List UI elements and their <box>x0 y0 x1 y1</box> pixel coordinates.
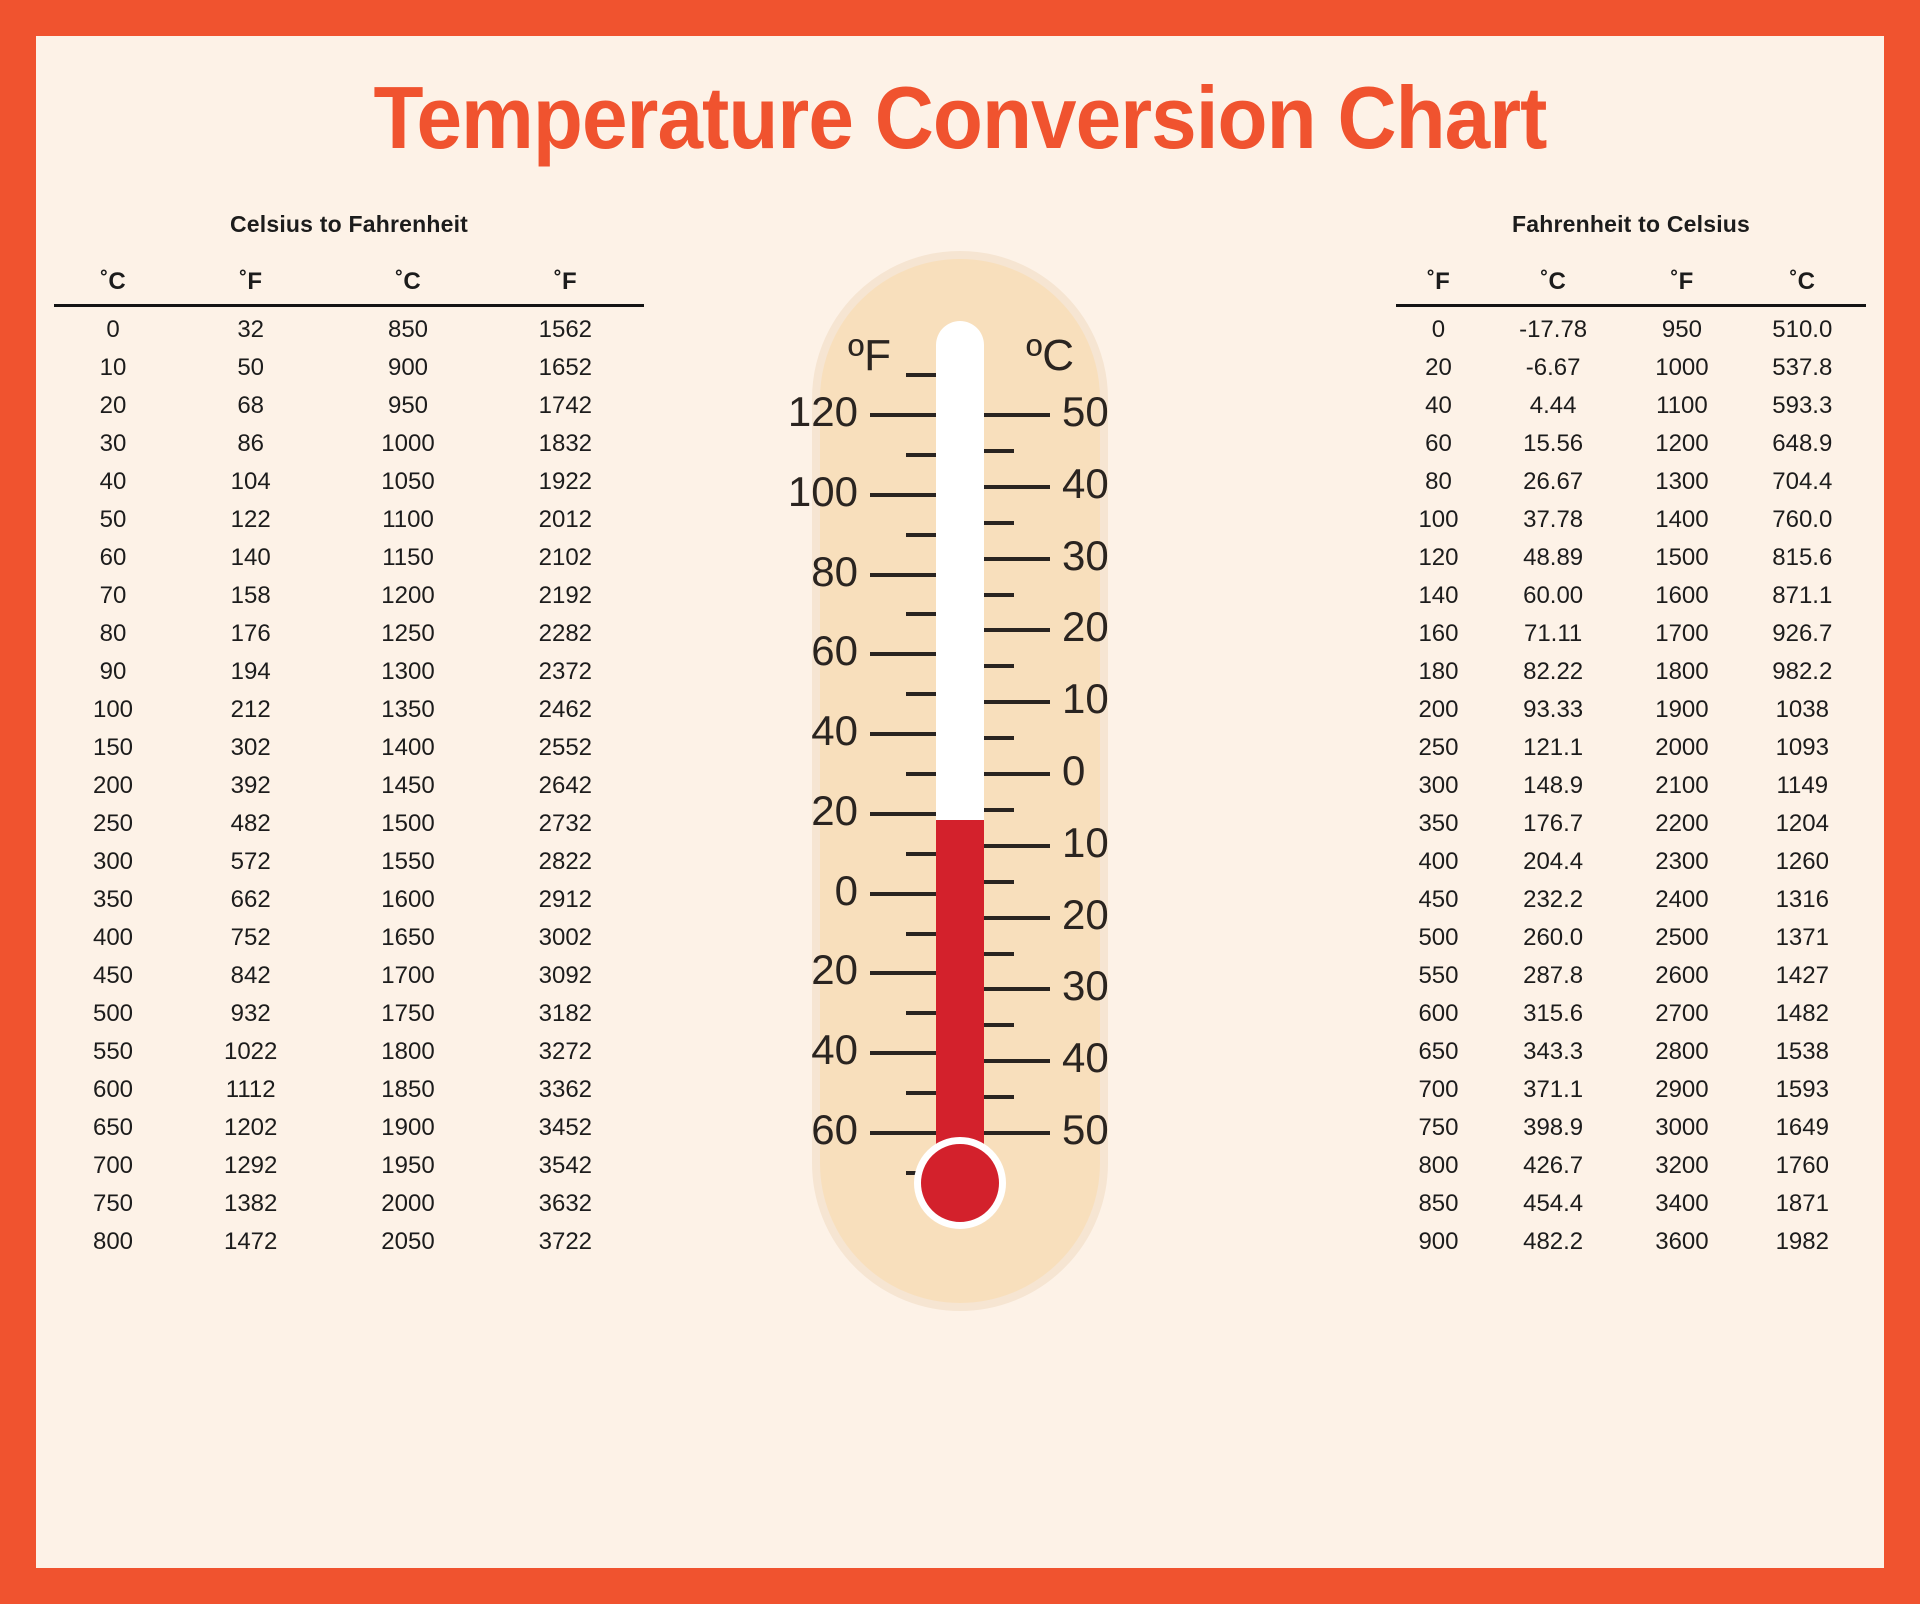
table-cell: 1450 <box>329 767 486 805</box>
table-cell: 1800 <box>1625 653 1738 691</box>
table-cell: 398.9 <box>1481 1109 1625 1147</box>
table-cell: 1350 <box>329 691 486 729</box>
table-cell: 1650 <box>329 919 486 957</box>
table-cell: 26.67 <box>1481 463 1625 501</box>
table-cell: 86 <box>172 425 329 463</box>
table-cell: 704.4 <box>1739 463 1866 501</box>
table-cell: 60 <box>1396 425 1481 463</box>
table-cell: 0 <box>1396 306 1481 350</box>
table-cell: 158 <box>172 577 329 615</box>
scale-tick-label: 50 <box>1062 391 1109 433</box>
table-cell: 3182 <box>487 995 644 1033</box>
scale-tick-label: 20 <box>1062 606 1109 648</box>
column-header: ˚F <box>487 268 644 306</box>
poster-sheet: Temperature Conversion Chart Celsius to … <box>36 36 1884 1568</box>
scale-tick-label: 40 <box>811 710 858 752</box>
table-cell: 315.6 <box>1481 995 1625 1033</box>
thermometer-celsius-unit-label: ºC <box>1026 331 1074 381</box>
table-row: 600315.627001482 <box>1396 995 1866 1033</box>
table-cell: 2300 <box>1625 843 1738 881</box>
column-header: ˚C <box>1481 268 1625 306</box>
table-row: 16071.111700926.7 <box>1396 615 1866 653</box>
table-row: 50093217503182 <box>54 995 644 1033</box>
table-cell: 2372 <box>487 653 644 691</box>
table-cell: 760.0 <box>1739 501 1866 539</box>
table-cell: 204.4 <box>1481 843 1625 881</box>
table-cell: 150 <box>54 729 172 767</box>
table-cell: 1652 <box>487 349 644 387</box>
scale-tick-label: 60 <box>811 630 858 672</box>
table-row: 12048.891500815.6 <box>1396 539 1866 577</box>
table-cell: 300 <box>1396 767 1481 805</box>
table-row: 7015812002192 <box>54 577 644 615</box>
table-cell: 1550 <box>329 843 486 881</box>
table-row: 6015.561200648.9 <box>1396 425 1866 463</box>
thermometer-fahrenheit-unit-label: ºF <box>848 331 891 381</box>
table-cell: 1382 <box>172 1185 329 1223</box>
table-cell: 2552 <box>487 729 644 767</box>
table-row: 6014011502102 <box>54 539 644 577</box>
table-cell: 1300 <box>1625 463 1738 501</box>
table-cell: 750 <box>1396 1109 1481 1147</box>
scale-tick-label: 50 <box>1062 1109 1109 1151</box>
table-cell: 2900 <box>1625 1071 1738 1109</box>
table-cell: 454.4 <box>1481 1185 1625 1223</box>
table-row: 20-6.671000537.8 <box>1396 349 1866 387</box>
table-cell: 1538 <box>1739 1033 1866 1071</box>
table-cell: 200 <box>54 767 172 805</box>
table-cell: 1200 <box>1625 425 1738 463</box>
table-cell: 1600 <box>329 881 486 919</box>
table-row: 400204.423001260 <box>1396 843 1866 881</box>
table-cell: 648.9 <box>1739 425 1866 463</box>
table-cell: 1150 <box>329 539 486 577</box>
table-cell: 1100 <box>1625 387 1738 425</box>
table-cell: 1600 <box>1625 577 1738 615</box>
scale-tick-label: 40 <box>1062 463 1109 505</box>
table-cell: 1400 <box>329 729 486 767</box>
column-header: ˚C <box>1739 268 1866 306</box>
table-row: 750138220003632 <box>54 1185 644 1223</box>
table-cell: 40 <box>54 463 172 501</box>
table-cell: 1500 <box>1625 539 1738 577</box>
table-cell: 1760 <box>1739 1147 1866 1185</box>
table-cell: 700 <box>1396 1071 1481 1109</box>
table-cell: 80 <box>1396 463 1481 501</box>
table-cell: 842 <box>172 957 329 995</box>
table-cell: 1292 <box>172 1147 329 1185</box>
table-cell: 3632 <box>487 1185 644 1223</box>
scale-tick-label: 30 <box>1062 965 1109 1007</box>
table-cell: 300 <box>54 843 172 881</box>
table-cell: -6.67 <box>1481 349 1625 387</box>
table-cell: 2192 <box>487 577 644 615</box>
table-cell: 426.7 <box>1481 1147 1625 1185</box>
table-cell: 2732 <box>487 805 644 843</box>
table-cell: 0 <box>54 306 172 350</box>
table-cell: 2700 <box>1625 995 1738 1033</box>
table-cell: 1500 <box>329 805 486 843</box>
table-row: 9019413002372 <box>54 653 644 691</box>
table-cell: 2912 <box>487 881 644 919</box>
table-cell: 926.7 <box>1739 615 1866 653</box>
table-cell: 104 <box>172 463 329 501</box>
scale-tick-label: 40 <box>1062 1037 1109 1079</box>
table-cell: -17.78 <box>1481 306 1625 350</box>
table-cell: 3092 <box>487 957 644 995</box>
table-cell: 982.2 <box>1739 653 1866 691</box>
table-row: 25048215002732 <box>54 805 644 843</box>
scale-tick-label: 80 <box>811 551 858 593</box>
table-cell: 350 <box>54 881 172 919</box>
table-row: 650120219003452 <box>54 1109 644 1147</box>
table-cell: 650 <box>1396 1033 1481 1071</box>
table-cell: 1371 <box>1739 919 1866 957</box>
table-cell: 121.1 <box>1481 729 1625 767</box>
table-cell: 287.8 <box>1481 957 1625 995</box>
table-cell: 200 <box>1396 691 1481 729</box>
table-cell: 3002 <box>487 919 644 957</box>
table-cell: 3200 <box>1625 1147 1738 1185</box>
table-row: 250121.120001093 <box>1396 729 1866 767</box>
table-cell: 50 <box>54 501 172 539</box>
table-cell: 250 <box>1396 729 1481 767</box>
table-cell: 950 <box>329 387 486 425</box>
table-cell: 302 <box>172 729 329 767</box>
table-cell: 212 <box>172 691 329 729</box>
table-cell: 1850 <box>329 1071 486 1109</box>
table-row: 10037.781400760.0 <box>1396 501 1866 539</box>
table-cell: 3272 <box>487 1033 644 1071</box>
table-cell: 500 <box>1396 919 1481 957</box>
table-cell: 1950 <box>329 1147 486 1185</box>
table-cell: 1038 <box>1739 691 1866 729</box>
table-cell: 1316 <box>1739 881 1866 919</box>
table-cell: 850 <box>1396 1185 1481 1223</box>
scale-tick-label: 100 <box>788 471 858 513</box>
table-cell: 1260 <box>1739 843 1866 881</box>
table-cell: 176 <box>172 615 329 653</box>
table-row: 45084217003092 <box>54 957 644 995</box>
table-cell: 1000 <box>1625 349 1738 387</box>
celsius-to-fahrenheit-table: ˚C ˚F ˚C ˚F 0328501562105090016522068950… <box>54 268 644 1261</box>
page-title: Temperature Conversion Chart <box>101 74 1820 162</box>
table-cell: 2012 <box>487 501 644 539</box>
table-cell: 60 <box>54 539 172 577</box>
table-cell: 3000 <box>1625 1109 1738 1147</box>
table-cell: 1562 <box>487 306 644 350</box>
table-cell: 900 <box>329 349 486 387</box>
column-header: ˚F <box>1396 268 1481 306</box>
table-row: 300148.921001149 <box>1396 767 1866 805</box>
table-cell: 815.6 <box>1739 539 1866 577</box>
table-cell: 37.78 <box>1481 501 1625 539</box>
fahrenheit-to-celsius-table: ˚F ˚C ˚F ˚C 0-17.78950510.020-6.67100053… <box>1396 268 1866 1261</box>
table-cell: 510.0 <box>1739 306 1866 350</box>
table-cell: 1900 <box>1625 691 1738 729</box>
table-cell: 3542 <box>487 1147 644 1185</box>
table-cell: 2822 <box>487 843 644 881</box>
thermometer-bulb <box>914 1137 1006 1229</box>
table-cell: 1093 <box>1739 729 1866 767</box>
table-row: 600111218503362 <box>54 1071 644 1109</box>
scale-tick-label: 0 <box>1062 750 1085 792</box>
table-cell: 260.0 <box>1481 919 1625 957</box>
table-cell: 600 <box>1396 995 1481 1033</box>
right-table-caption: Fahrenheit to Celsius <box>1396 211 1866 238</box>
table-row: 900482.236001982 <box>1396 1223 1866 1261</box>
fahrenheit-to-celsius-block: Fahrenheit to Celsius ˚F ˚C ˚F ˚C 0-17.7… <box>1396 211 1866 1261</box>
scale-tick-label: 10 <box>1062 822 1109 864</box>
table-row: 800147220503722 <box>54 1223 644 1261</box>
table-cell: 30 <box>54 425 172 463</box>
table-cell: 650 <box>54 1109 172 1147</box>
table-header-row: ˚C ˚F ˚C ˚F <box>54 268 644 306</box>
table-cell: 2000 <box>329 1185 486 1223</box>
table-row: 0328501562 <box>54 306 644 350</box>
table-cell: 80 <box>54 615 172 653</box>
table-cell: 1472 <box>172 1223 329 1261</box>
table-cell: 371.1 <box>1481 1071 1625 1109</box>
table-cell: 60.00 <box>1481 577 1625 615</box>
table-row: 450232.224001316 <box>1396 881 1866 919</box>
table-cell: 40 <box>1396 387 1481 425</box>
table-header-row: ˚F ˚C ˚F ˚C <box>1396 268 1866 306</box>
table-cell: 140 <box>172 539 329 577</box>
scale-tick-label: 30 <box>1062 535 1109 577</box>
table-cell: 2050 <box>329 1223 486 1261</box>
table-row: 4010410501922 <box>54 463 644 501</box>
table-cell: 1204 <box>1739 805 1866 843</box>
table-cell: 1871 <box>1739 1185 1866 1223</box>
table-cell: 1700 <box>1625 615 1738 653</box>
table-row: 35066216002912 <box>54 881 644 919</box>
table-cell: 450 <box>1396 881 1481 919</box>
table-cell: 3722 <box>487 1223 644 1261</box>
table-cell: 600 <box>54 1071 172 1109</box>
table-cell: 343.3 <box>1481 1033 1625 1071</box>
table-cell: 82.22 <box>1481 653 1625 691</box>
table-row: 18082.221800982.2 <box>1396 653 1866 691</box>
table-cell: 20 <box>54 387 172 425</box>
table-row: 700371.129001593 <box>1396 1071 1866 1109</box>
table-row: 750398.930001649 <box>1396 1109 1866 1147</box>
table-cell: 392 <box>172 767 329 805</box>
table-cell: 70 <box>54 577 172 615</box>
table-cell: 450 <box>54 957 172 995</box>
table-cell: 800 <box>54 1223 172 1261</box>
table-cell: 32 <box>172 306 329 350</box>
table-cell: 900 <box>1396 1223 1481 1261</box>
table-cell: 140 <box>1396 577 1481 615</box>
table-cell: 15.56 <box>1481 425 1625 463</box>
table-cell: 2100 <box>1625 767 1738 805</box>
table-cell: 550 <box>1396 957 1481 995</box>
table-cell: 194 <box>172 653 329 691</box>
table-cell: 250 <box>54 805 172 843</box>
table-cell: 1000 <box>329 425 486 463</box>
table-cell: 1200 <box>329 577 486 615</box>
table-cell: 2800 <box>1625 1033 1738 1071</box>
table-cell: 2102 <box>487 539 644 577</box>
table-cell: 50 <box>172 349 329 387</box>
table-cell: 850 <box>329 306 486 350</box>
scale-tick-label: 120 <box>788 391 858 433</box>
table-cell: 1742 <box>487 387 644 425</box>
table-cell: 1427 <box>1739 957 1866 995</box>
table-cell: 1022 <box>172 1033 329 1071</box>
table-cell: 662 <box>172 881 329 919</box>
column-header: ˚C <box>329 268 486 306</box>
table-cell: 950 <box>1625 306 1738 350</box>
table-cell: 1100 <box>329 501 486 539</box>
table-cell: 1922 <box>487 463 644 501</box>
scale-tick-label: 20 <box>811 949 858 991</box>
table-cell: 482.2 <box>1481 1223 1625 1261</box>
table-row: 20039214502642 <box>54 767 644 805</box>
table-cell: 2500 <box>1625 919 1738 957</box>
table-cell: 500 <box>54 995 172 1033</box>
poster-root: Temperature Conversion Chart Celsius to … <box>0 0 1920 1604</box>
table-cell: 71.11 <box>1481 615 1625 653</box>
table-cell: 800 <box>1396 1147 1481 1185</box>
table-cell: 180 <box>1396 653 1481 691</box>
table-cell: 4.44 <box>1481 387 1625 425</box>
column-header: ˚C <box>54 268 172 306</box>
thermometer-mercury <box>936 820 984 1181</box>
table-cell: 1250 <box>329 615 486 653</box>
table-cell: 1832 <box>487 425 644 463</box>
table-cell: 20 <box>1396 349 1481 387</box>
table-cell: 1300 <box>329 653 486 691</box>
table-cell: 1400 <box>1625 501 1738 539</box>
table-row: 14060.001600871.1 <box>1396 577 1866 615</box>
table-cell: 593.3 <box>1739 387 1866 425</box>
table-cell: 100 <box>1396 501 1481 539</box>
table-row: 404.441100593.3 <box>1396 387 1866 425</box>
table-row: 350176.722001204 <box>1396 805 1866 843</box>
table-cell: 400 <box>1396 843 1481 881</box>
table-cell: 1750 <box>329 995 486 1033</box>
table-cell: 3400 <box>1625 1185 1738 1223</box>
table-cell: 2000 <box>1625 729 1738 767</box>
table-row: 550287.826001427 <box>1396 957 1866 995</box>
table-row: 10021213502462 <box>54 691 644 729</box>
table-cell: 1649 <box>1739 1109 1866 1147</box>
table-cell: 232.2 <box>1481 881 1625 919</box>
table-row: 20093.3319001038 <box>1396 691 1866 729</box>
table-cell: 68 <box>172 387 329 425</box>
table-cell: 93.33 <box>1481 691 1625 729</box>
table-row: 850454.434001871 <box>1396 1185 1866 1223</box>
table-cell: 2600 <box>1625 957 1738 995</box>
table-cell: 2282 <box>487 615 644 653</box>
table-row: 5012211002012 <box>54 501 644 539</box>
table-cell: 2642 <box>487 767 644 805</box>
table-cell: 932 <box>172 995 329 1033</box>
table-row: 550102218003272 <box>54 1033 644 1071</box>
column-header: ˚F <box>172 268 329 306</box>
table-cell: 2400 <box>1625 881 1738 919</box>
celsius-to-fahrenheit-block: Celsius to Fahrenheit ˚C ˚F ˚C ˚F 032850… <box>54 211 644 1261</box>
table-cell: 160 <box>1396 615 1481 653</box>
table-row: 15030214002552 <box>54 729 644 767</box>
thermometer-tube <box>936 321 984 1181</box>
table-cell: 122 <box>172 501 329 539</box>
scale-tick-label: 20 <box>811 790 858 832</box>
table-row: 650343.328001538 <box>1396 1033 1866 1071</box>
scale-tick-label: 20 <box>1062 894 1109 936</box>
table-cell: 350 <box>1396 805 1481 843</box>
table-cell: 1482 <box>1739 995 1866 1033</box>
table-cell: 1982 <box>1739 1223 1866 1261</box>
table-cell: 1593 <box>1739 1071 1866 1109</box>
table-row: 20689501742 <box>54 387 644 425</box>
table-cell: 148.9 <box>1481 767 1625 805</box>
table-cell: 1202 <box>172 1109 329 1147</box>
table-cell: 1700 <box>329 957 486 995</box>
left-table-caption: Celsius to Fahrenheit <box>54 211 644 238</box>
scale-tick-label: 60 <box>811 1109 858 1151</box>
table-row: 8017612502282 <box>54 615 644 653</box>
table-row: 8026.671300704.4 <box>1396 463 1866 501</box>
table-cell: 90 <box>54 653 172 691</box>
table-cell: 176.7 <box>1481 805 1625 843</box>
table-cell: 537.8 <box>1739 349 1866 387</box>
table-row: 40075216503002 <box>54 919 644 957</box>
scale-tick-label: 40 <box>811 1029 858 1071</box>
column-header: ˚F <box>1625 268 1738 306</box>
table-cell: 400 <box>54 919 172 957</box>
table-row: 30057215502822 <box>54 843 644 881</box>
thermometer-graphic: ºF ºC 120100806040200204060 504030201001… <box>812 251 1108 1311</box>
table-cell: 1800 <box>329 1033 486 1071</box>
table-row: 0-17.78950510.0 <box>1396 306 1866 350</box>
table-cell: 100 <box>54 691 172 729</box>
table-row: 700129219503542 <box>54 1147 644 1185</box>
table-cell: 2462 <box>487 691 644 729</box>
table-cell: 1900 <box>329 1109 486 1147</box>
table-cell: 10 <box>54 349 172 387</box>
table-cell: 572 <box>172 843 329 881</box>
table-row: 10509001652 <box>54 349 644 387</box>
table-cell: 3362 <box>487 1071 644 1109</box>
table-cell: 550 <box>54 1033 172 1071</box>
table-cell: 482 <box>172 805 329 843</box>
table-cell: 2200 <box>1625 805 1738 843</box>
table-cell: 1149 <box>1739 767 1866 805</box>
table-cell: 1050 <box>329 463 486 501</box>
table-cell: 3600 <box>1625 1223 1738 1261</box>
table-cell: 700 <box>54 1147 172 1185</box>
table-cell: 750 <box>54 1185 172 1223</box>
table-row: 308610001832 <box>54 425 644 463</box>
table-cell: 3452 <box>487 1109 644 1147</box>
table-row: 500260.025001371 <box>1396 919 1866 957</box>
scale-tick-label: 0 <box>835 870 858 912</box>
table-cell: 1112 <box>172 1071 329 1109</box>
table-row: 800426.732001760 <box>1396 1147 1866 1185</box>
scale-tick-label: 10 <box>1062 678 1109 720</box>
table-cell: 752 <box>172 919 329 957</box>
table-cell: 48.89 <box>1481 539 1625 577</box>
table-cell: 871.1 <box>1739 577 1866 615</box>
table-cell: 120 <box>1396 539 1481 577</box>
